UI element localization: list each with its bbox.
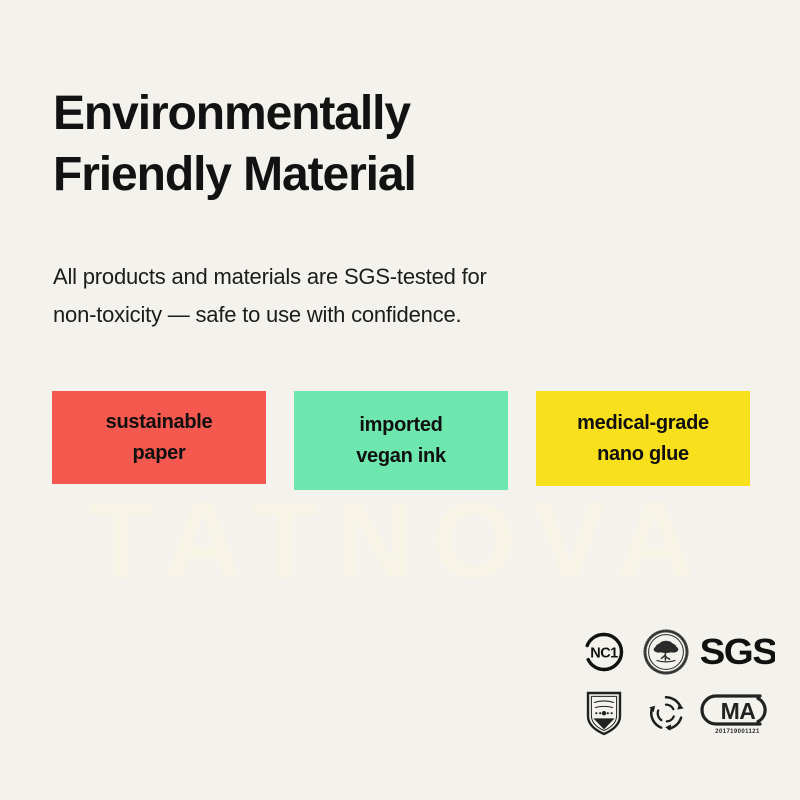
nc1-icon: NC1 xyxy=(583,631,625,673)
recycling-certification-badge xyxy=(644,691,688,735)
material-tag-line-2: nano glue xyxy=(597,439,689,470)
sgs-certification-badge: SGS xyxy=(701,632,775,672)
shield-icon xyxy=(584,689,624,737)
material-tag-group: sustainable paper imported vegan ink med… xyxy=(52,391,752,491)
svg-text:SGS: SGS xyxy=(701,632,775,672)
recycling-icon xyxy=(644,691,688,735)
cma-certification-badge: MA 201719001121 xyxy=(700,692,776,735)
svg-text:MA: MA xyxy=(720,698,755,724)
material-tag-sustainable-paper: sustainable paper xyxy=(52,391,266,484)
material-tag-line-1: medical-grade xyxy=(577,408,709,439)
brand-watermark: TATNOVA xyxy=(0,486,800,594)
material-tag-line-1: imported xyxy=(359,410,442,441)
page-title: Environmentally Friendly Material xyxy=(53,84,753,205)
page-subtitle: All products and materials are SGS-teste… xyxy=(53,258,693,334)
poster-canvas: TATNOVA Environmentally Friendly Materia… xyxy=(0,0,800,800)
cma-certification-code: 201719001121 xyxy=(715,729,760,735)
nc1-certification-badge: NC1 xyxy=(583,631,625,673)
cma-icon: MA xyxy=(700,692,776,728)
sgs-icon: SGS xyxy=(701,632,775,672)
material-tag-line-2: paper xyxy=(133,438,186,469)
certification-badge-group: NC1 SGS xyxy=(573,622,778,744)
forest-seal-certification-badge xyxy=(643,629,689,675)
material-tag-line-2: vegan ink xyxy=(356,441,446,472)
forest-seal-icon xyxy=(643,629,689,675)
page-subtitle-line-2: non-toxicity — safe to use with confiden… xyxy=(53,296,693,334)
shield-certification-badge xyxy=(584,689,624,737)
svg-text:NC1: NC1 xyxy=(590,646,618,662)
page-title-line-1: Environmentally xyxy=(53,87,410,140)
material-tag-line-1: sustainable xyxy=(106,407,213,438)
material-tag-medical-grade-nano-glue: medical-grade nano glue xyxy=(536,391,750,486)
material-tag-imported-vegan-ink: imported vegan ink xyxy=(294,391,508,490)
page-title-line-2: Friendly Material xyxy=(53,145,753,205)
page-subtitle-line-1: All products and materials are SGS-teste… xyxy=(53,264,487,289)
